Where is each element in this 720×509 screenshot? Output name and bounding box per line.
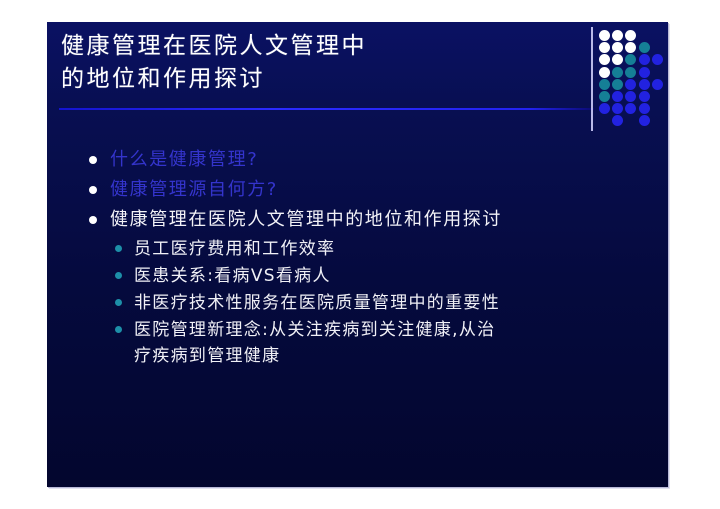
list-item-label: 医院管理新理念:从关注疾病到关注健康,从治 疗疾病到管理健康 xyxy=(134,317,495,369)
decor-dot xyxy=(612,79,623,90)
list-item-label: 医患关系:看病VS看病人 xyxy=(134,263,331,289)
list-item-label: 健康管理在医院人文管理中的地位和作用探讨 xyxy=(110,206,502,233)
decor-dot xyxy=(612,103,623,114)
decor-dot xyxy=(612,54,623,65)
list-item-label: 什么是健康管理? xyxy=(110,146,258,173)
decor-dot xyxy=(639,54,650,65)
bullet-marker-icon xyxy=(115,272,122,279)
decor-dot xyxy=(639,103,650,114)
decor-dot xyxy=(612,67,623,78)
decor-dot xyxy=(625,91,636,102)
decor-dot xyxy=(599,79,610,90)
bullet-marker-icon xyxy=(89,156,97,164)
list-item: 医患关系:看病VS看病人 xyxy=(89,263,649,289)
bullet-marker-icon xyxy=(115,245,122,252)
decor-dot xyxy=(599,103,610,114)
decor-dot xyxy=(625,42,636,53)
title-divider-rule xyxy=(59,108,594,110)
decor-dot xyxy=(599,67,610,78)
list-item-label: 健康管理源自何方? xyxy=(110,176,278,203)
decor-dot xyxy=(625,79,636,90)
decor-dot xyxy=(599,91,610,102)
list-item: 什么是健康管理? xyxy=(89,146,649,173)
decor-dot xyxy=(612,91,623,102)
decor-dot xyxy=(639,42,650,53)
decor-dot xyxy=(612,30,623,41)
decor-dot xyxy=(639,67,650,78)
decor-dot xyxy=(625,54,636,65)
decor-dot xyxy=(612,42,623,53)
decor-dot xyxy=(599,42,610,53)
list-item-label: 员工医疗费用和工作效率 xyxy=(134,236,335,262)
slide-title-line-1: 健康管理在医院人文管理中 xyxy=(61,30,581,63)
list-item: 医院管理新理念:从关注疾病到关注健康,从治 疗疾病到管理健康 xyxy=(89,317,649,369)
bullet-marker-icon xyxy=(89,186,97,194)
list-item: 健康管理源自何方? xyxy=(89,176,649,203)
bullet-marker-icon xyxy=(89,216,97,224)
bullet-marker-icon xyxy=(115,326,122,333)
decor-dot xyxy=(639,91,650,102)
list-item: 员工医疗费用和工作效率 xyxy=(89,236,649,262)
decor-dot xyxy=(625,67,636,78)
decor-dot xyxy=(652,54,663,65)
decor-dot xyxy=(625,30,636,41)
decor-dot xyxy=(639,79,650,90)
list-item: 非医疗技术性服务在医院质量管理中的重要性 xyxy=(89,290,649,316)
decor-dot xyxy=(652,79,663,90)
decor-dot xyxy=(639,115,650,126)
bullet-marker-icon xyxy=(115,299,122,306)
decor-dot xyxy=(612,115,623,126)
decor-dot xyxy=(625,103,636,114)
slide-title: 健康管理在医院人文管理中 的地位和作用探讨 xyxy=(61,30,581,96)
header-vertical-divider xyxy=(591,27,593,131)
decorative-dot-grid xyxy=(599,30,665,126)
presentation-slide: 健康管理在医院人文管理中 的地位和作用探讨 什么是健康管理?健康管理源自何方?健… xyxy=(47,22,668,487)
list-item: 健康管理在医院人文管理中的地位和作用探讨 xyxy=(89,206,649,233)
decor-dot xyxy=(599,30,610,41)
slide-title-line-2: 的地位和作用探讨 xyxy=(61,63,581,96)
list-item-label: 非医疗技术性服务在医院质量管理中的重要性 xyxy=(134,290,500,316)
bullet-list: 什么是健康管理?健康管理源自何方?健康管理在医院人文管理中的地位和作用探讨员工医… xyxy=(89,146,649,370)
decor-dot xyxy=(599,54,610,65)
